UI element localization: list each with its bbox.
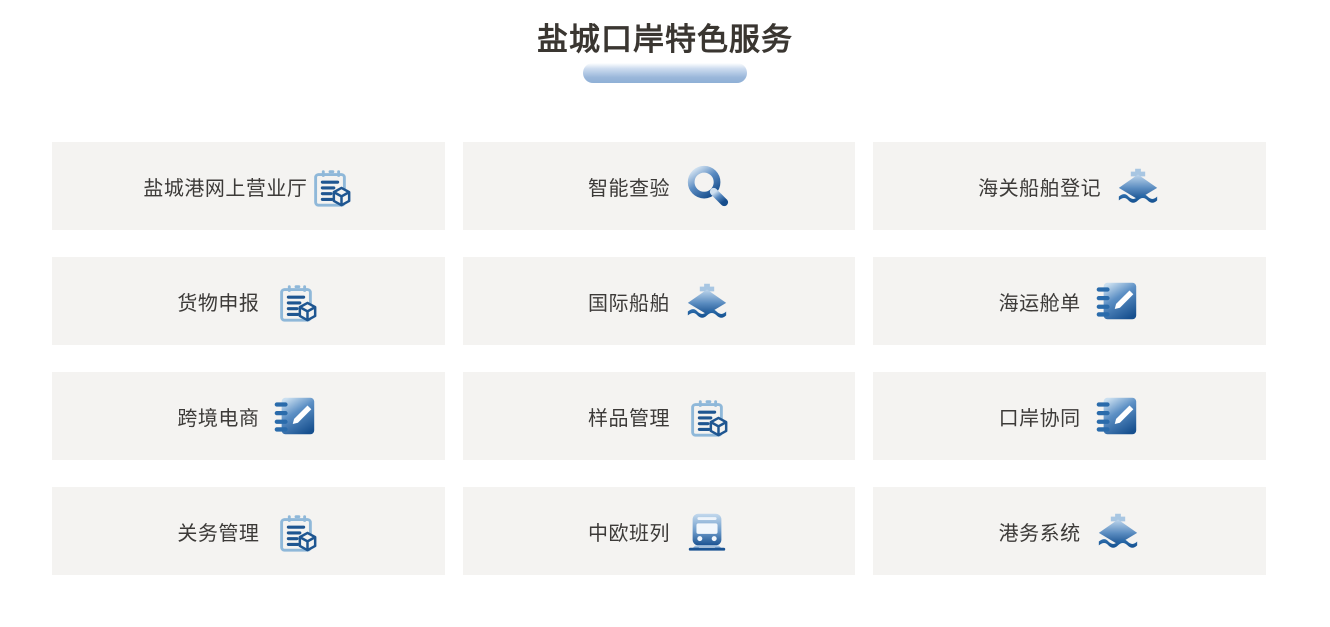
service-card[interactable]: 关务管理 [52, 487, 445, 575]
clipboard-box-icon [273, 278, 319, 324]
page-header: 盐城口岸特色服务 [0, 18, 1330, 62]
service-card-label: 口岸协同 [999, 402, 1081, 431]
service-card-label: 海运舱单 [999, 287, 1081, 316]
service-card[interactable]: 货物申报 [52, 257, 445, 345]
service-card[interactable]: 盐城港网上营业厅 [52, 142, 445, 230]
service-card[interactable]: 国际船舶 [463, 257, 856, 345]
service-card-label: 盐城港网上营业厅 [143, 172, 307, 201]
title-underline-highlight [583, 63, 747, 83]
service-grid: 盐城港网上营业厅 智能查验 海关船舶登记 货物申报 国际船舶 [52, 142, 1266, 575]
service-card-label: 关务管理 [177, 517, 259, 546]
service-card-label: 货物申报 [177, 287, 259, 316]
notebook-pencil-icon [1095, 278, 1141, 324]
ship-icon [1095, 508, 1141, 554]
service-card[interactable]: 口岸协同 [873, 372, 1266, 460]
notebook-pencil-icon [273, 393, 319, 439]
clipboard-box-icon [273, 508, 319, 554]
ship-icon [1115, 163, 1161, 209]
service-card[interactable]: 海关船舶登记 [873, 142, 1266, 230]
notebook-pencil-icon [1095, 393, 1141, 439]
service-card[interactable]: 智能查验 [463, 142, 856, 230]
train-icon [684, 508, 730, 554]
service-card-label: 中欧班列 [588, 517, 670, 546]
service-card-label: 跨境电商 [177, 402, 259, 431]
service-card[interactable]: 海运舱单 [873, 257, 1266, 345]
ship-icon [684, 278, 730, 324]
page-title: 盐城口岸特色服务 [537, 18, 793, 62]
service-card-label: 港务系统 [999, 517, 1081, 546]
service-card[interactable]: 中欧班列 [463, 487, 856, 575]
service-card[interactable]: 港务系统 [873, 487, 1266, 575]
clipboard-box-icon [684, 393, 730, 439]
service-card[interactable]: 样品管理 [463, 372, 856, 460]
magnifier-icon [684, 163, 730, 209]
clipboard-box-icon [307, 163, 353, 209]
service-card-label: 海关船舶登记 [978, 172, 1101, 201]
service-card-label: 样品管理 [588, 402, 670, 431]
service-card-label: 智能查验 [588, 172, 670, 201]
service-card[interactable]: 跨境电商 [52, 372, 445, 460]
service-card-label: 国际船舶 [588, 287, 670, 316]
